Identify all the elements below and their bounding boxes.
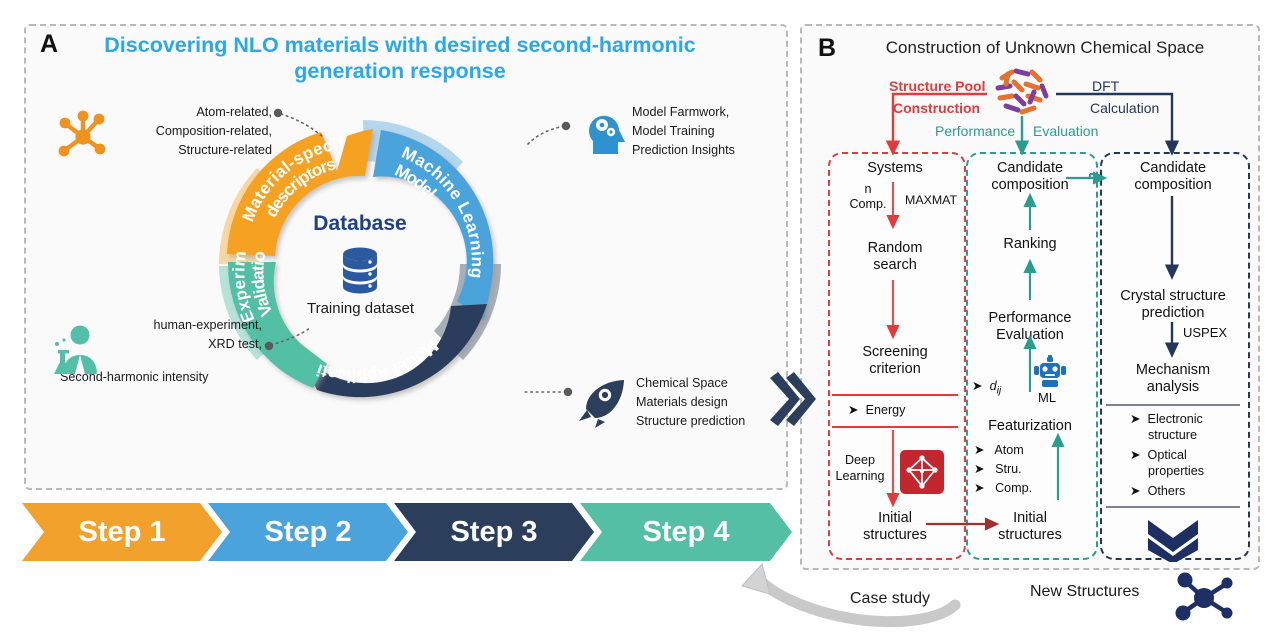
performance-evaluation-node: PerformanceEvaluation bbox=[968, 310, 1092, 344]
validation-note-line1: human-experiment, bbox=[110, 316, 262, 335]
initial-structures-node: Initialstructures bbox=[832, 510, 958, 544]
ml-note-line3: Prediction Insights bbox=[632, 141, 735, 160]
feat-atom-bullet: ➤ Atom bbox=[974, 442, 1024, 459]
application-note-line2: Materials design bbox=[636, 393, 745, 412]
crystal-structure-prediction-node: Crystal structureprediction bbox=[1100, 288, 1246, 322]
descriptors-note: Atom-related, Composition-related, Struc… bbox=[122, 103, 272, 160]
n-comp-node: nComp. bbox=[848, 182, 888, 212]
figure-root: A Discovering NLO materials with desired… bbox=[0, 0, 1280, 634]
validation-note: human-experiment, XRD test, bbox=[110, 316, 262, 354]
descriptors-note-line1: Atom-related, bbox=[122, 103, 272, 122]
divider-mech-bottom bbox=[1106, 506, 1240, 508]
screening-criterion-node: Screeningcriterion bbox=[832, 344, 958, 378]
panel-b-letter: B bbox=[818, 34, 836, 63]
evaluation-label: Evaluation bbox=[1033, 123, 1098, 139]
feat-stru-bullet: ➤ Stru. bbox=[974, 461, 1022, 478]
step-4-label: Step 4 bbox=[642, 516, 729, 549]
mech-electronic-bullet: ➤ Electronicstructure bbox=[1130, 411, 1203, 443]
steps-ribbon: Step 1 Step 2 Step 3 Step 4 bbox=[22, 503, 792, 571]
ml-note-line2: Model Training bbox=[632, 122, 735, 141]
rocket-icon bbox=[576, 376, 632, 428]
mechanism-analysis-node: Mechanismanalysis bbox=[1102, 362, 1244, 396]
panel-a-title-line2: generation response bbox=[294, 59, 505, 83]
panel-a-title: Discovering NLO materials with desired s… bbox=[60, 32, 740, 84]
dft-label-2: Calculation bbox=[1090, 100, 1159, 116]
case-study-label: Case study bbox=[850, 590, 930, 608]
divider-energy-bottom bbox=[832, 426, 958, 428]
database-subtitle: Training dataset bbox=[288, 300, 433, 317]
molecule-icon bbox=[1168, 562, 1240, 628]
performance-label: Performance bbox=[935, 123, 1015, 139]
ml-label: ML bbox=[1038, 390, 1056, 406]
ml-note-line1: Model Farmwork, bbox=[632, 103, 735, 122]
database-title: Database bbox=[300, 212, 420, 236]
panel-b-title: Construction of Unknown Chemical Space bbox=[845, 38, 1245, 58]
divider-energy-top bbox=[832, 394, 958, 396]
application-note-line1: Chemical Space bbox=[636, 374, 745, 393]
panel-a-letter: A bbox=[40, 30, 58, 59]
deep-learning-graph-icon bbox=[900, 450, 944, 494]
uspex-label: USPEX bbox=[1183, 325, 1227, 341]
descriptors-note-line3: Structure-related bbox=[122, 141, 272, 160]
scientist-flask-icon bbox=[48, 322, 108, 378]
candidate-composition-node: Candidatecomposition bbox=[968, 160, 1092, 194]
database-icon bbox=[337, 245, 383, 297]
step-2[interactable]: Step 2 bbox=[208, 503, 408, 561]
structure-pool-label-1: Structure Pool bbox=[889, 78, 985, 94]
structure-pool-icon bbox=[988, 62, 1054, 120]
dij-bullet: ➤ dij bbox=[972, 378, 1001, 400]
structure-pool-label-2: Construction bbox=[893, 100, 980, 116]
systems-node: Systems bbox=[832, 160, 958, 177]
ml-robot-icon bbox=[1032, 355, 1068, 389]
feat-comp-bullet: ➤ Comp. bbox=[974, 480, 1032, 497]
application-note: Chemical Space Materials design Structur… bbox=[636, 374, 745, 431]
initial-structures-node-2: Initialstructures bbox=[968, 510, 1092, 544]
deep-learning-label: DeepLearning bbox=[834, 452, 886, 484]
step-1[interactable]: Step 1 bbox=[22, 503, 222, 561]
maxmat-label: MAXMAT bbox=[905, 192, 957, 208]
head-gears-icon bbox=[582, 106, 630, 156]
step-2-label: Step 2 bbox=[264, 516, 351, 549]
validation-note-line2: XRD test, bbox=[110, 335, 262, 354]
panel-a-title-line1: Discovering NLO materials with desired s… bbox=[104, 33, 695, 57]
ranking-node: Ranking bbox=[968, 236, 1092, 253]
divider-mech-top bbox=[1106, 404, 1240, 406]
step-1-label: Step 1 bbox=[78, 516, 165, 549]
step-3[interactable]: Step 3 bbox=[394, 503, 594, 561]
featurization-node: Featurization bbox=[968, 418, 1092, 435]
double-chevron-down-icon bbox=[1144, 516, 1202, 562]
step-3-label: Step 3 bbox=[450, 516, 537, 549]
candidate-composition-node-2: Candidatecomposition bbox=[1102, 160, 1244, 194]
new-structures-label: New Structures bbox=[1030, 583, 1139, 601]
ml-note: Model Farmwork, Model Training Predictio… bbox=[632, 103, 735, 160]
energy-bullet: ➤ Energy bbox=[848, 402, 905, 419]
descriptors-note-line2: Composition-related, bbox=[122, 122, 272, 141]
mech-optical-bullet: ➤ Opticalproperties bbox=[1130, 447, 1204, 479]
molecule-node-icon bbox=[52, 104, 114, 166]
dft-label-1: DFT bbox=[1092, 78, 1119, 94]
random-search-node: Randomsearch bbox=[832, 240, 958, 274]
application-note-line3: Structure prediction bbox=[636, 412, 745, 431]
mech-others-bullet: ➤ Others bbox=[1130, 483, 1185, 500]
step-4[interactable]: Step 4 bbox=[580, 503, 792, 561]
